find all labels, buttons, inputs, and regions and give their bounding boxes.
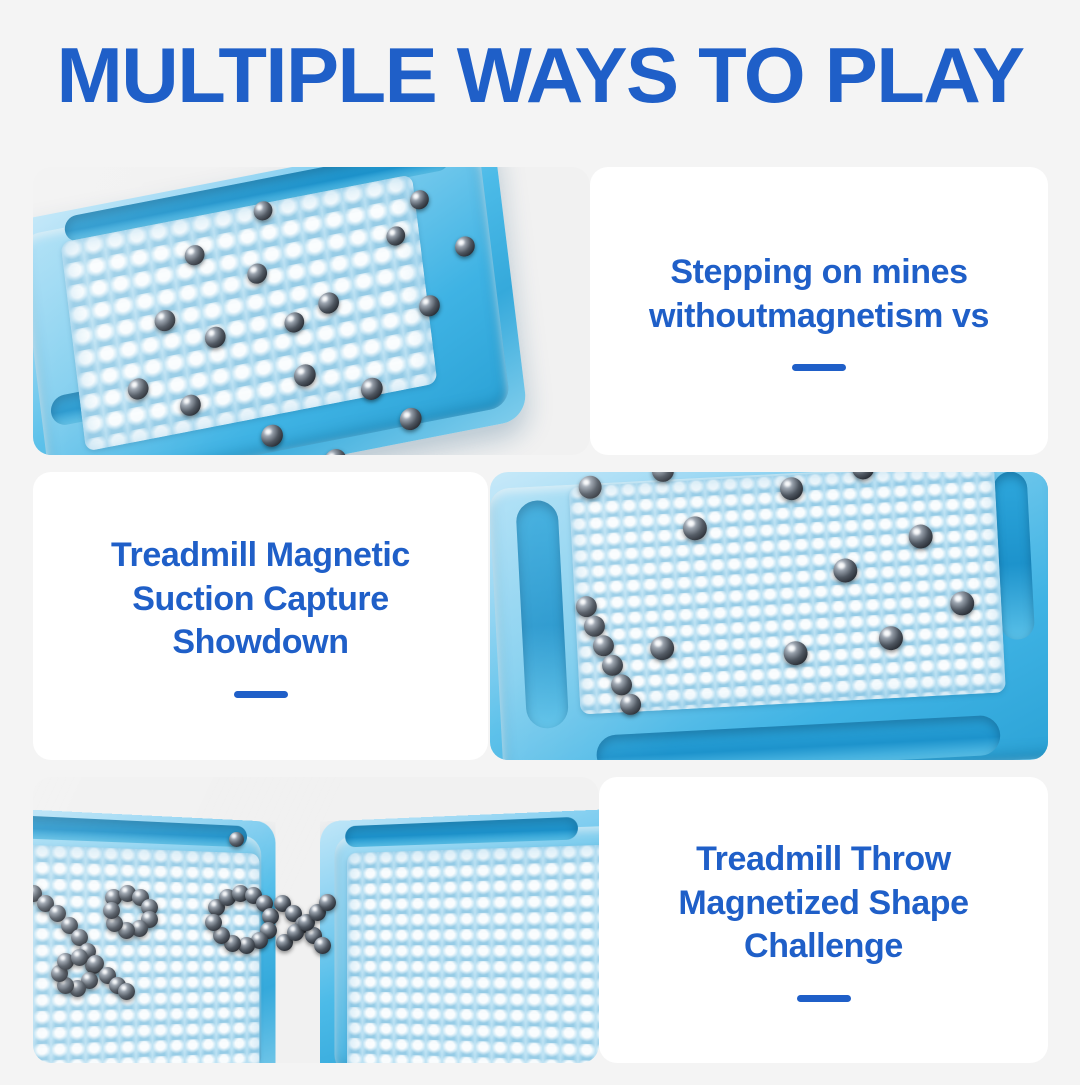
page-title: MULTIPLE WAYS TO PLAY [0,36,1080,114]
game-board [33,167,528,455]
caption-underline-3 [797,995,851,1002]
feature-text-card-3: Treadmill ThrowMagnetized ShapeChallenge [599,777,1048,1063]
magnetic-ball [205,914,222,931]
feature-image-card-3 [33,777,599,1063]
caption-underline-1 [792,364,846,371]
caption-line: Challenge [678,925,968,969]
caption-underline-2 [234,691,288,698]
magnetic-ball [229,832,244,847]
feature-text-card-2: Treadmill MagneticSuction CaptureShowdow… [33,472,488,760]
magnetic-ball [71,949,88,966]
caption-line: Showdown [111,621,410,665]
magnetic-ball [118,983,135,1000]
caption-line: Stepping on mines [649,251,989,295]
game-board-right [320,808,599,1063]
magnetic-ball [314,937,331,954]
game-board [490,472,1048,760]
board-play-surface [569,472,1006,715]
magnetic-ball [103,902,120,919]
feature-caption-3: Treadmill ThrowMagnetized ShapeChallenge [652,838,994,969]
board-play-surface [347,844,599,1063]
magnetic-board-photo-1 [33,167,590,455]
feature-caption-2: Treadmill MagneticSuction CaptureShowdow… [85,534,436,665]
caption-line: withoutmagnetism vs [649,295,989,339]
magnetic-board-photo-3 [33,777,599,1063]
feature-text-card-1: Stepping on mineswithoutmagnetism vs [590,167,1048,455]
caption-line: Suction Capture [111,578,410,622]
feature-image-card-1 [33,167,590,455]
caption-line: Treadmill Magnetic [111,534,410,578]
caption-line: Treadmill Throw [678,838,968,882]
magnetic-board-photo-2 [490,472,1048,760]
feature-caption-1: Stepping on mineswithoutmagnetism vs [623,251,1015,338]
feature-image-card-2 [490,472,1048,760]
magnetic-ball [319,894,336,911]
caption-line: Magnetized Shape [678,882,968,926]
